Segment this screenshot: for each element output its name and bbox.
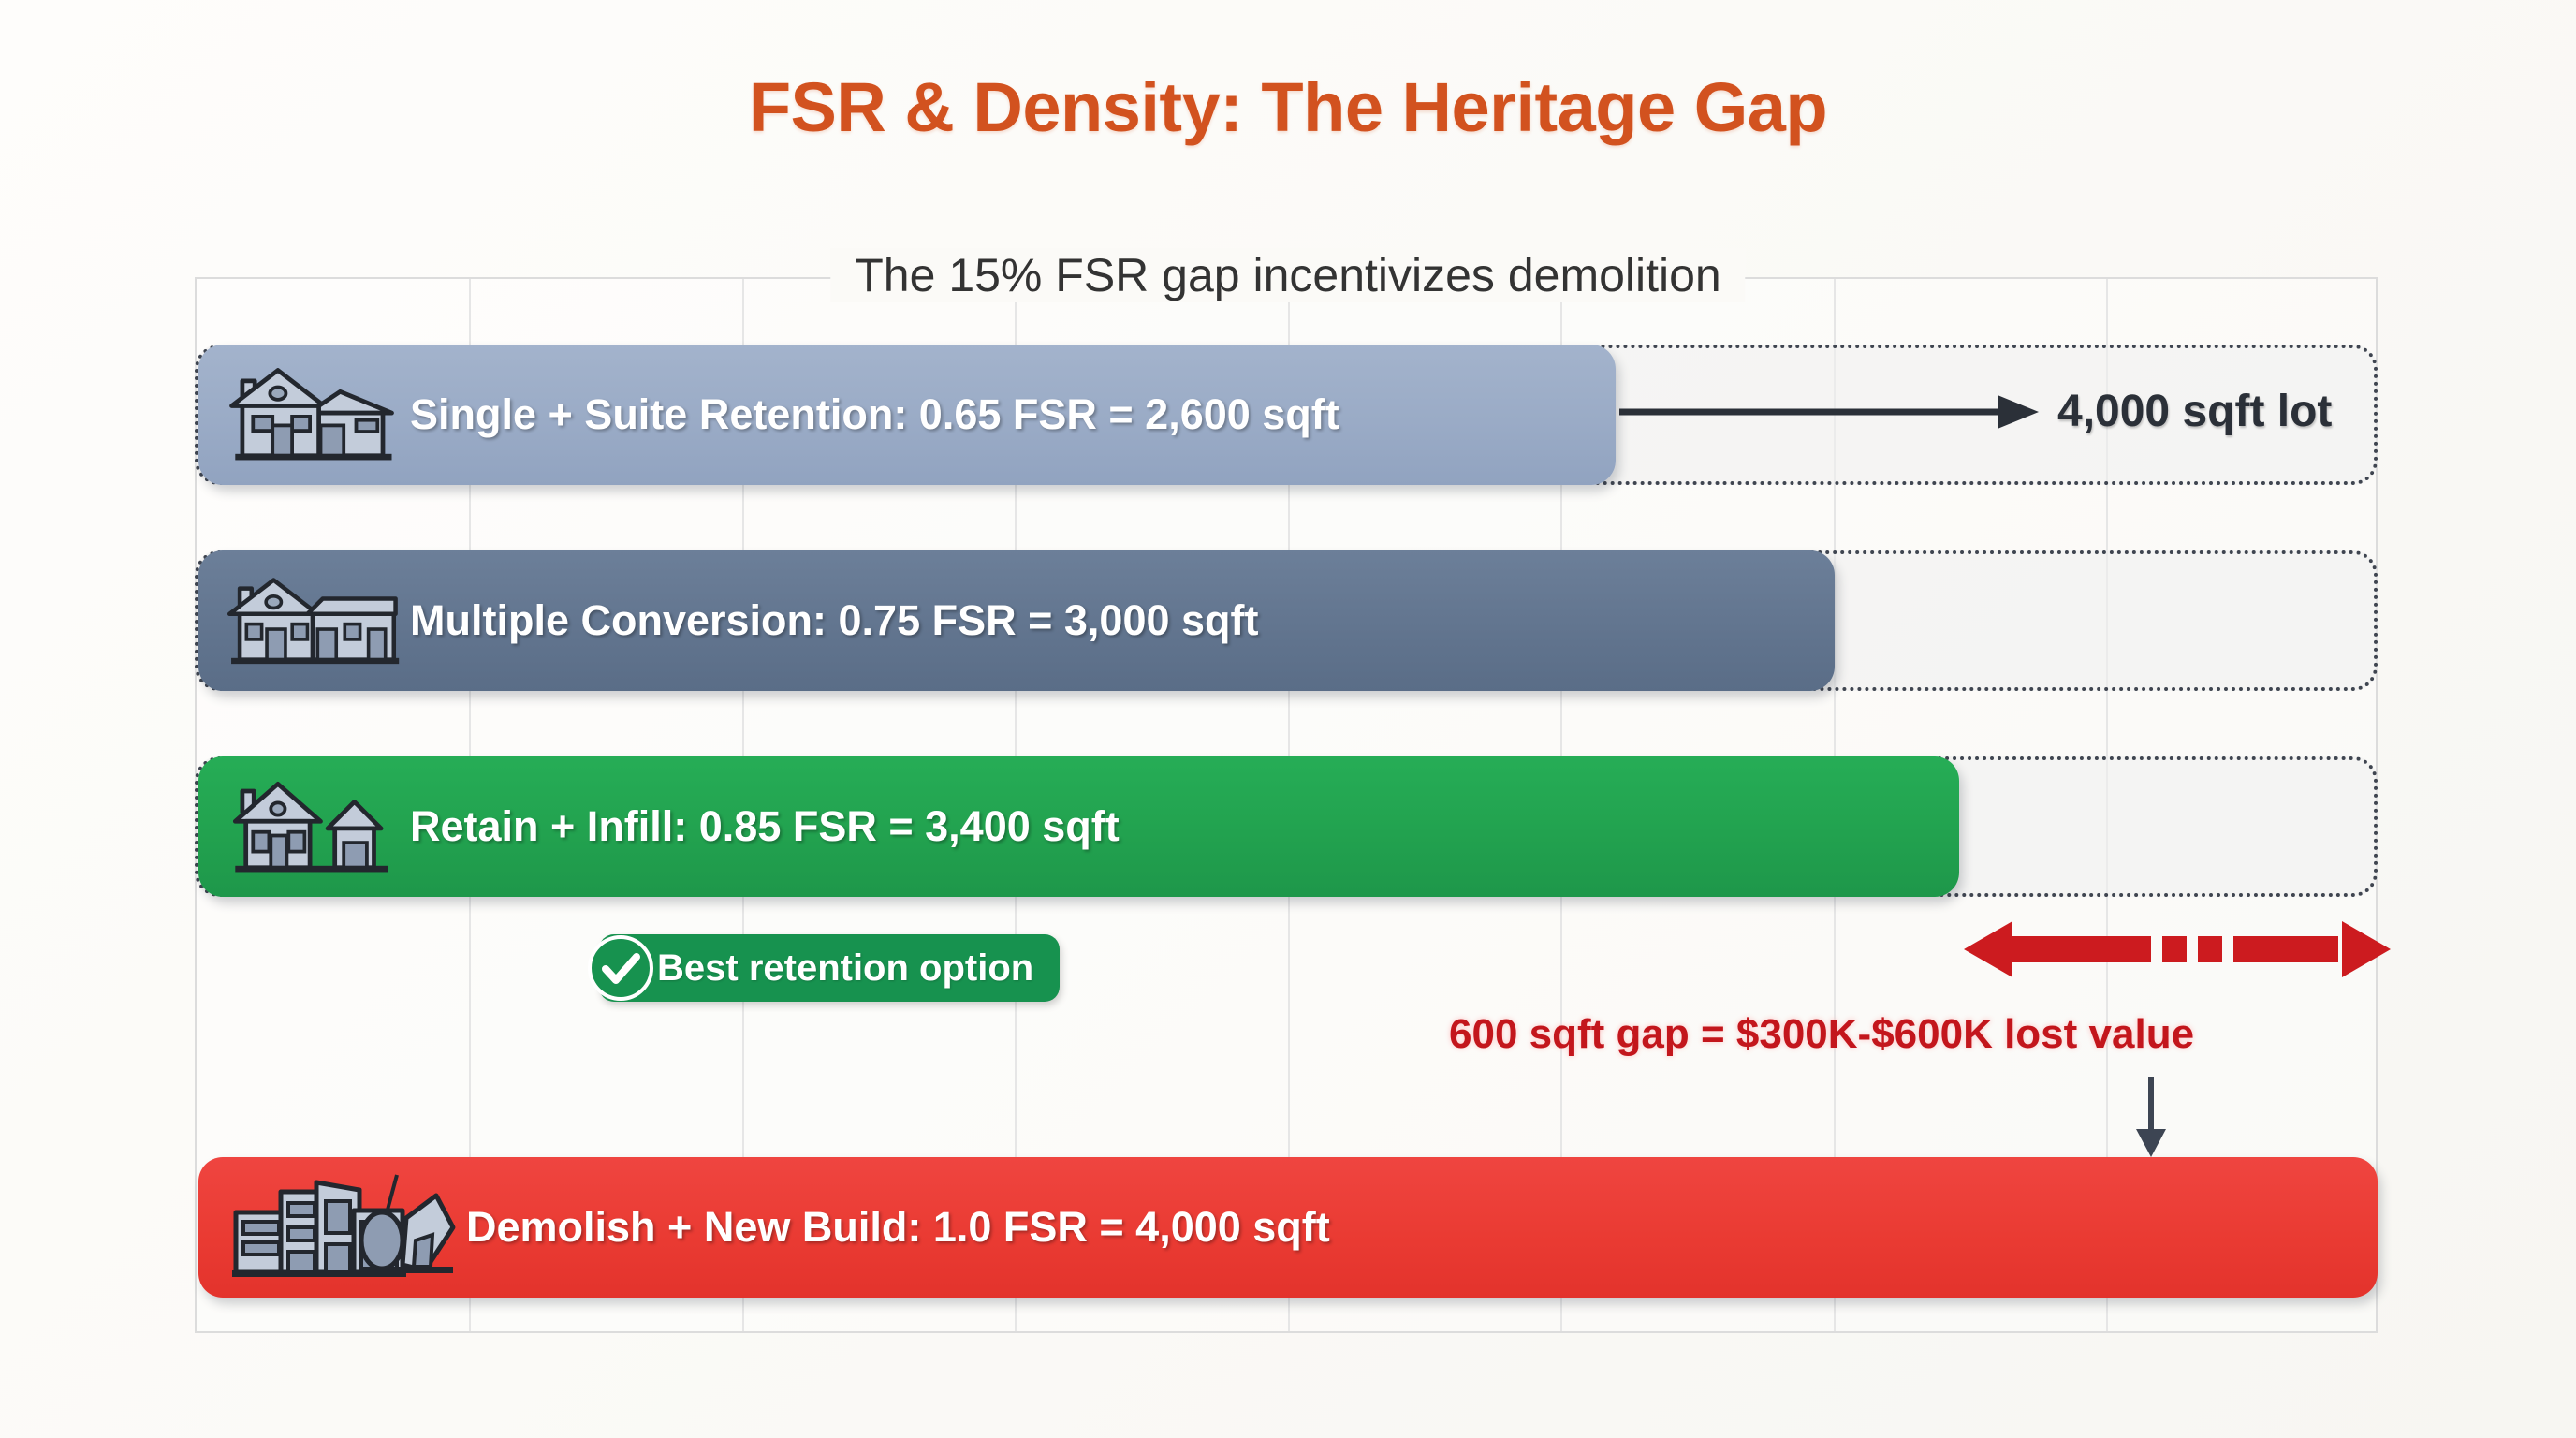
best-option-badge-label: Best retention option bbox=[657, 947, 1033, 990]
double-headed-arrow-icon bbox=[1962, 916, 2393, 983]
bar-label-multiple-conversion: Multiple Conversion: 0.75 FSR = 3,000 sq… bbox=[410, 596, 1258, 645]
bar-retain-infill[interactable]: Retain + Infill: 0.85 FSR = 3,400 sqft bbox=[198, 756, 1959, 897]
arrow-right-icon bbox=[1616, 378, 2046, 444]
page-title: FSR & Density: The Heritage Gap bbox=[0, 67, 2576, 147]
house-with-suite-icon bbox=[223, 359, 401, 471]
bar-label-retain-infill: Retain + Infill: 0.85 FSR = 3,400 sqft bbox=[410, 802, 1120, 851]
chart-subtitle: The 15% FSR gap incentivizes demolition bbox=[830, 248, 1745, 302]
best-option-badge[interactable]: Best retention option bbox=[599, 934, 1060, 1002]
gap-callout-text: 600 sqft gap = $300K-$600K lost value bbox=[1449, 1011, 2194, 1058]
lot-annotation-label: 4,000 sqft lot bbox=[2057, 386, 2332, 437]
bar-demolish-new-build[interactable]: Demolish + New Build: 1.0 FSR = 4,000 sq… bbox=[198, 1157, 2378, 1298]
multi-unit-house-icon bbox=[223, 565, 401, 677]
check-circle-icon bbox=[586, 933, 655, 1003]
arrow-down-icon bbox=[2125, 1075, 2177, 1159]
house-plus-infill-icon bbox=[223, 770, 401, 883]
bar-label-single-suite-retention: Single + Suite Retention: 0.65 FSR = 2,6… bbox=[410, 390, 1339, 439]
bar-multiple-conversion[interactable]: Multiple Conversion: 0.75 FSR = 3,000 sq… bbox=[198, 550, 1835, 691]
bar-label-demolish-new-build: Demolish + New Build: 1.0 FSR = 4,000 sq… bbox=[466, 1203, 1330, 1252]
demolition-wrecking-ball-icon bbox=[223, 1171, 457, 1284]
lot-capacity-annotation: 4,000 sqft lot bbox=[1616, 378, 2332, 444]
bar-single-suite-retention[interactable]: Single + Suite Retention: 0.65 FSR = 2,6… bbox=[198, 345, 1616, 485]
